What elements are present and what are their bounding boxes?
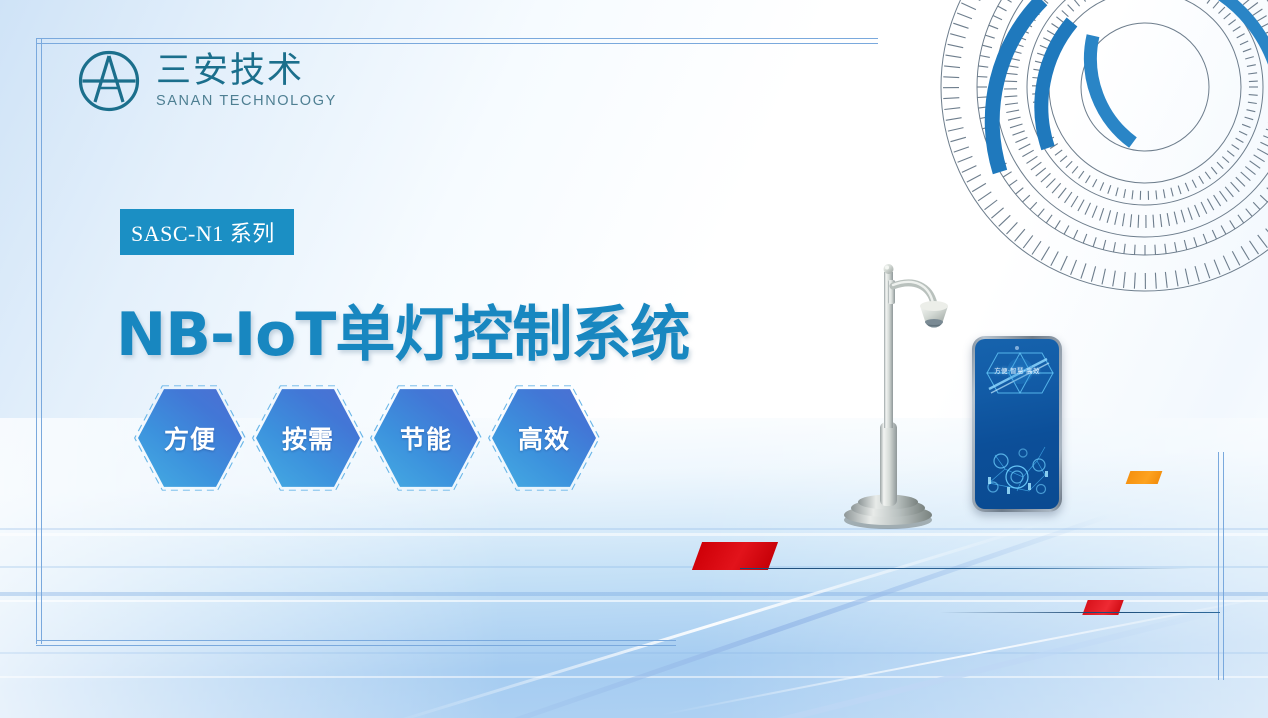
feature-label: 节能 bbox=[400, 420, 452, 456]
feature-hexagon: 按需 bbox=[256, 386, 360, 490]
feature-hexagon-row: 方便 按需 节能 bbox=[138, 386, 596, 490]
frame-line-left bbox=[36, 38, 42, 644]
phone-network-graphic bbox=[975, 425, 1059, 503]
phone-screen: 方便·智慧·高效 bbox=[975, 339, 1059, 509]
frame-line-bottom bbox=[36, 640, 676, 646]
accent-parallelogram-red-large bbox=[697, 542, 773, 570]
accent-hline-lower bbox=[940, 612, 1220, 613]
tech-radar-circle-icon bbox=[930, 0, 1268, 302]
accent-parallelogram-orange bbox=[1128, 471, 1160, 484]
street-lamp-icon bbox=[836, 254, 948, 532]
feature-hexagon: 高效 bbox=[492, 386, 596, 490]
sanan-circle-a-logo-icon bbox=[76, 48, 142, 114]
feature-label: 按需 bbox=[282, 420, 334, 456]
brand-name-en: SANAN TECHNOLOGY bbox=[156, 93, 337, 109]
feature-label: 方便 bbox=[164, 420, 216, 456]
brand-name-cn: 三安技术 bbox=[156, 53, 337, 90]
frame-line-right bbox=[1218, 452, 1224, 680]
frame-line-top bbox=[36, 38, 878, 44]
accent-hline-upper bbox=[740, 568, 1190, 569]
smartphone-icon: 方便·智慧·高效 bbox=[972, 336, 1062, 512]
brand-logo: 三安技术 SANAN TECHNOLOGY bbox=[76, 48, 337, 114]
page-title: NB-IoT单灯控制系统 bbox=[116, 286, 689, 373]
phone-screen-text: 方便·智慧·高效 bbox=[975, 365, 1059, 375]
slide-canvas: 三安技术 SANAN TECHNOLOGY SASC-N1 系列 NB-IoT单… bbox=[0, 0, 1268, 718]
feature-label: 高效 bbox=[518, 420, 570, 456]
feature-hexagon: 方便 bbox=[138, 386, 242, 490]
series-badge: SASC-N1 系列 bbox=[120, 209, 294, 255]
feature-hexagon: 节能 bbox=[374, 386, 478, 490]
